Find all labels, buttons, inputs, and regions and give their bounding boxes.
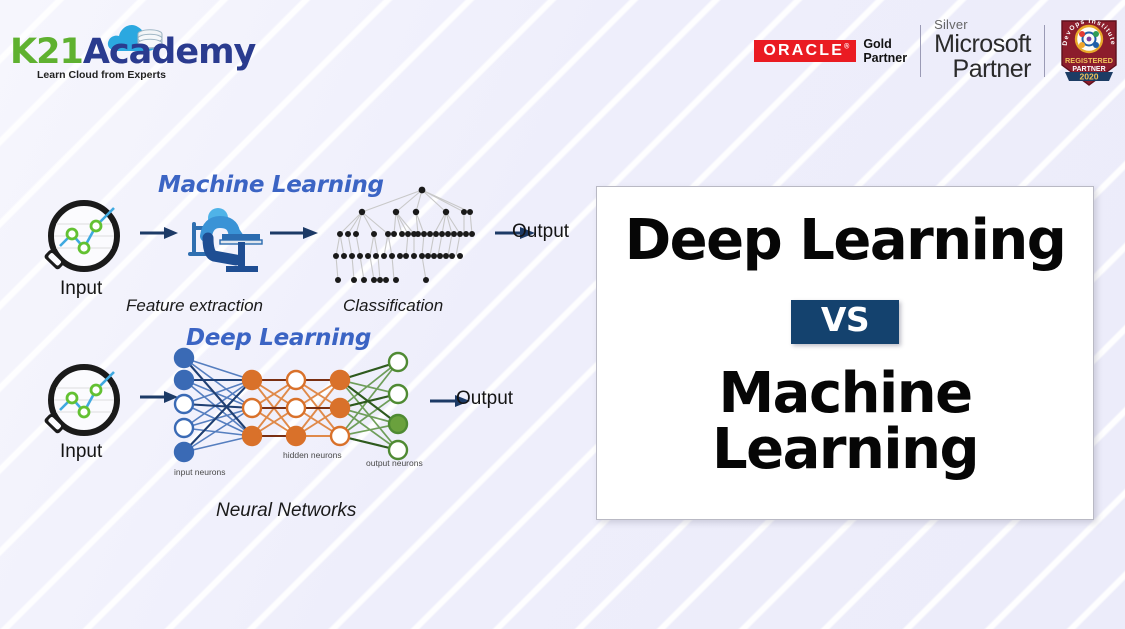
dl-neural-network-icon (166, 346, 426, 466)
partner-badges: ORACLE® Gold Partner Silver Microsoft Pa… (754, 10, 1120, 92)
oracle-tier-line1: Gold (863, 37, 907, 51)
ml-vs-dl-illustration: Machine Learning Input (18, 160, 588, 540)
badge-divider-2 (1044, 25, 1045, 77)
microsoft-wordmark: Microsoft (934, 32, 1031, 57)
brand-tagline: Learn Cloud from Experts (37, 69, 166, 81)
oracle-gold-partner-badge: ORACLE® Gold Partner (754, 37, 907, 66)
ml-output-label: Output (512, 221, 569, 243)
brand-name-academy: Academy (83, 32, 256, 72)
badge-divider (920, 25, 921, 77)
vs-row: VS (597, 300, 1093, 344)
devops-institute-registered-partner-badge: REGISTERED PARTNER 2020 DevOps Institute (1058, 15, 1120, 87)
microsoft-silver-partner-badge: Silver Microsoft Partner (934, 18, 1031, 84)
oracle-wordmark: ORACLE (763, 42, 844, 59)
dl-output-label: Output (456, 388, 513, 410)
devops-badge-shield-icon: REGISTERED PARTNER 2020 DevOps Institute (1058, 15, 1120, 87)
ml-magnifier-chart-icon (36, 196, 131, 288)
brand-logo: K21Academy Learn Cloud from Experts (10, 8, 200, 88)
oracle-tier: Gold Partner (863, 37, 907, 66)
oracle-tier-line2: Partner (863, 51, 907, 65)
brand-name-k21: K21 (10, 32, 83, 72)
vs-badge: VS (791, 300, 899, 344)
card-deep-learning-title: Deep Learning (597, 213, 1093, 269)
neural-networks-caption: Neural Networks (216, 500, 356, 522)
ml-classification-label: Classification (343, 296, 443, 316)
devops-year-text: 2020 (1079, 72, 1098, 82)
card-machine-title: Machine (597, 366, 1093, 422)
dl-output-neurons-label: output neurons (366, 458, 423, 468)
brand-name: K21Academy (10, 32, 255, 72)
dl-hidden-neurons-label: hidden neurons (283, 450, 342, 460)
slide-canvas: K21Academy Learn Cloud from Experts ORAC… (0, 0, 1125, 629)
devops-registered-text: REGISTERED (1065, 56, 1114, 65)
ml-person-at-desk-icon (176, 198, 266, 280)
title-card: Deep Learning VS Machine Learning (596, 186, 1094, 520)
ml-feature-extraction-label: Feature extraction (126, 296, 263, 316)
ml-arrow-1-icon (138, 224, 180, 242)
oracle-logo: ORACLE® (754, 40, 856, 62)
card-learning-title: Learning (597, 422, 1093, 478)
dl-magnifier-chart-icon (36, 360, 131, 452)
ml-classification-tree-icon (318, 184, 486, 292)
ml-input-label: Input (60, 278, 102, 300)
ml-arrow-2-icon (268, 224, 320, 242)
dl-input-neurons-label: input neurons (174, 467, 226, 477)
microsoft-partner-word: Partner (934, 57, 1031, 82)
dl-input-label: Input (60, 441, 102, 463)
registered-trademark-icon: ® (844, 44, 849, 51)
